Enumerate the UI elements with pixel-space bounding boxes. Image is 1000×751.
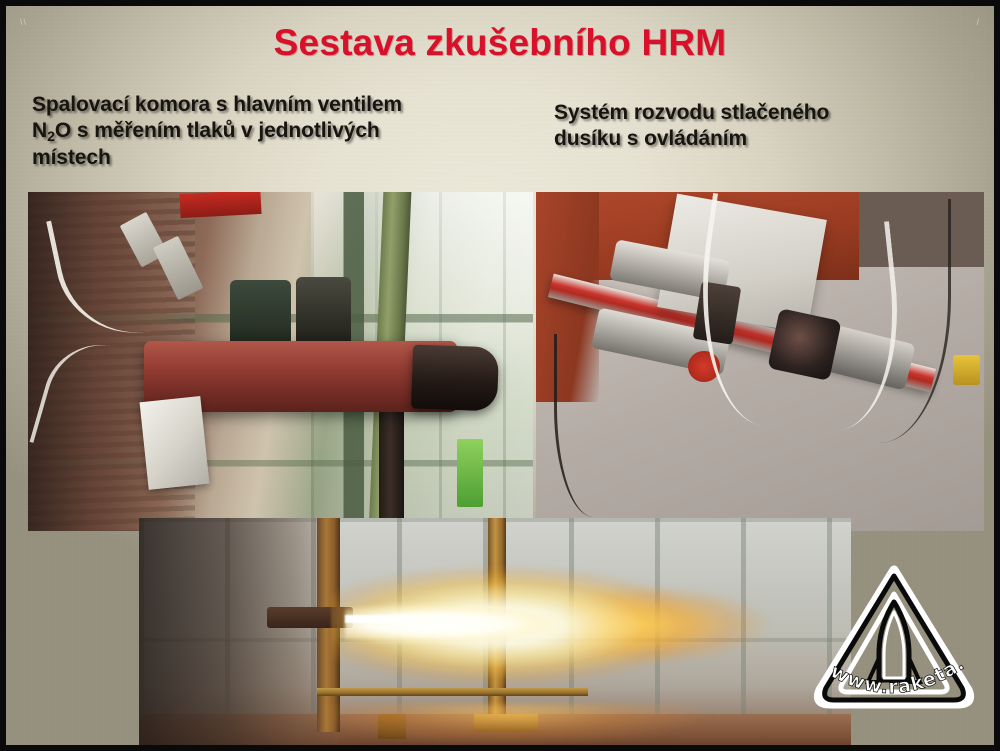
caption-left-chamber: Spalovací komora s hlavním ventilem N2O … xyxy=(32,92,512,171)
firing-floor-glow xyxy=(324,704,737,751)
chamber-mounting-plate xyxy=(140,396,209,490)
chamber-red-bracket xyxy=(179,192,261,218)
caption-left-formula-subscript: 2 xyxy=(47,129,55,145)
caption-left-line-1: Spalovací komora s hlavním ventilem xyxy=(32,92,512,118)
firing-jet-root xyxy=(345,615,502,623)
caption-left-line-2: N2O s měřením tlaků v jednotlivých xyxy=(32,118,512,144)
slide-title: Sestava zkušebního HRM xyxy=(6,22,994,64)
firing-test-rig xyxy=(139,518,338,751)
photo-hot-fire-test xyxy=(139,518,851,751)
photo-nitrogen-distribution xyxy=(536,192,984,531)
presentation-slide: \\ / Sestava zkušebního HRM Spalovací ko… xyxy=(0,0,1000,751)
firing-plume-core xyxy=(345,602,630,646)
chamber-nozzle xyxy=(411,345,499,412)
chamber-valve-body-b xyxy=(296,277,352,352)
chamber-green-bottle xyxy=(457,439,482,507)
caption-left-line-2-rest: O s měřením tlaků v jednotlivých xyxy=(55,119,380,142)
caption-right-line-1: Systém rozvodu stlačeného xyxy=(554,100,954,126)
photo-combustion-chamber xyxy=(28,192,533,531)
caption-right-nitrogen: Systém rozvodu stlačeného dusíku s ovlád… xyxy=(554,100,954,153)
caption-left-line-3: místech xyxy=(32,145,512,171)
nitrogen-yellow-object xyxy=(953,355,980,386)
caption-left-formula-prefix: N xyxy=(32,119,47,142)
caption-right-line-2: dusíku s ovládáním xyxy=(554,126,954,152)
